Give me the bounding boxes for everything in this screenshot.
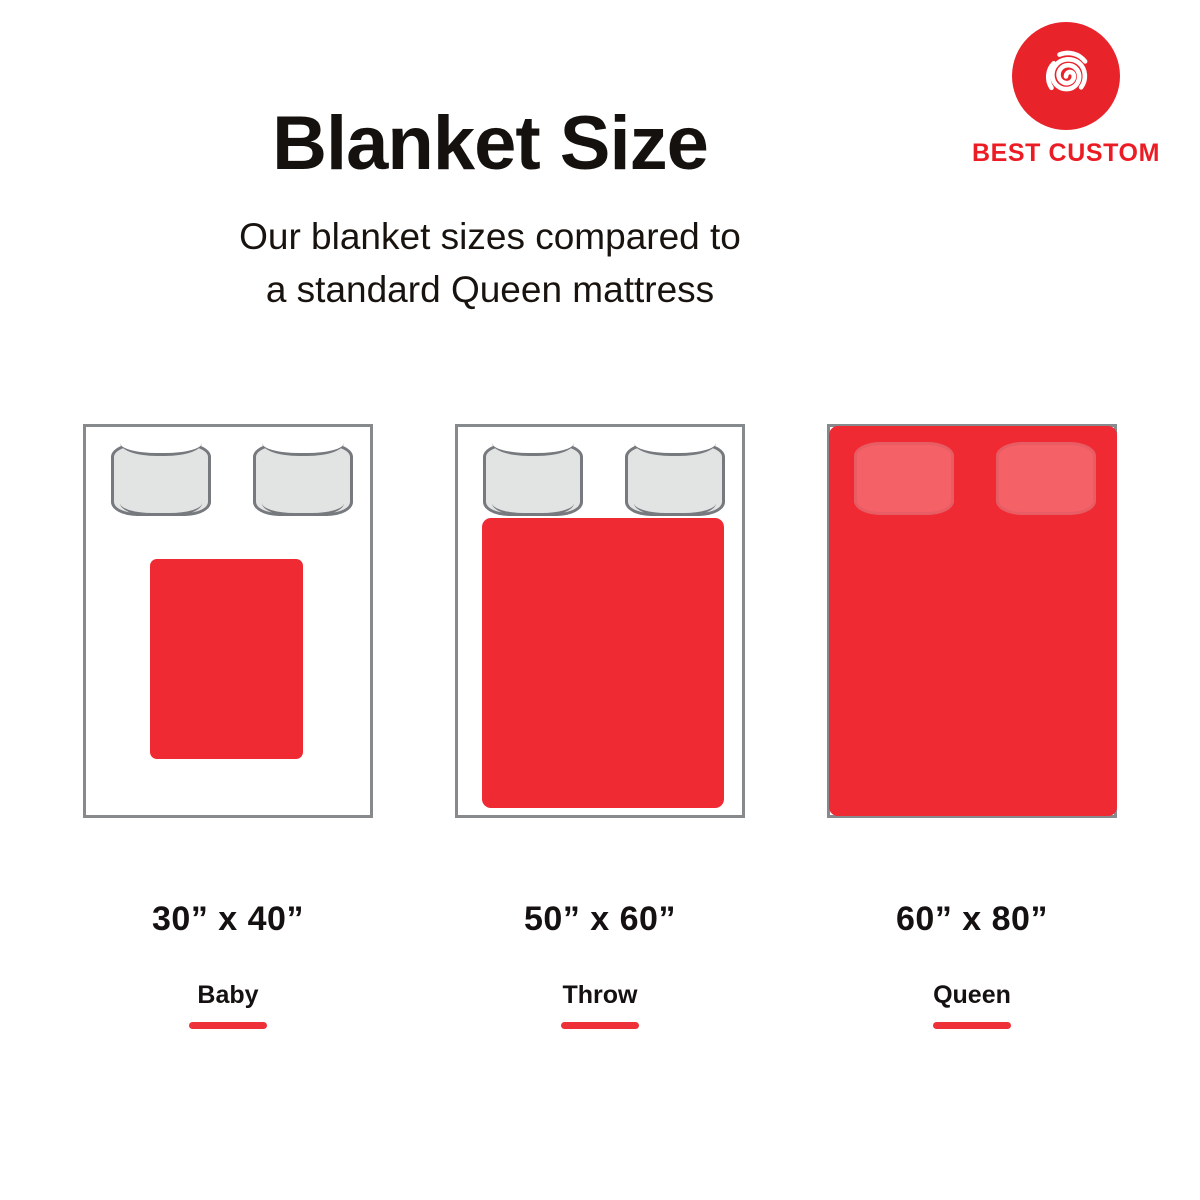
mattress-outline xyxy=(83,424,373,818)
dimension-label: 30” x 40” xyxy=(83,900,373,939)
bed-diagram-baby xyxy=(83,424,373,824)
caption-baby: 30” x 40” Baby xyxy=(83,900,373,1029)
dimension-label: 50” x 60” xyxy=(455,900,745,939)
blanket-queen xyxy=(829,426,1117,816)
mattress-outline xyxy=(455,424,745,818)
subtitle-line-1: Our blanket sizes compared to xyxy=(0,210,980,264)
caption-queen: 60” x 80” Queen xyxy=(827,900,1117,1029)
page-title: Blanket Size xyxy=(0,104,980,184)
pillow-right-icon xyxy=(625,443,725,516)
bed-diagrams xyxy=(0,424,1200,824)
header: Blanket Size Our blanket sizes compared … xyxy=(0,104,1200,317)
accent-underline xyxy=(189,1022,267,1029)
accent-underline xyxy=(561,1022,639,1029)
bed-captions: 30” x 40” Baby 50” x 60” Throw 60” x 80”… xyxy=(0,900,1200,1040)
pillow-right-icon xyxy=(253,443,353,516)
size-name-label: Throw xyxy=(455,981,745,1010)
pillow-left-icon xyxy=(111,443,211,516)
size-name-label: Baby xyxy=(83,981,373,1010)
pillow-right-icon xyxy=(996,442,1096,515)
page-subtitle: Our blanket sizes compared to a standard… xyxy=(0,210,980,317)
pillow-left-icon xyxy=(483,443,583,516)
blanket-throw xyxy=(482,518,724,808)
bed-diagram-queen xyxy=(827,424,1117,824)
size-name-label: Queen xyxy=(827,981,1117,1010)
infographic-page: BEST CUSTOM Blanket Size Our blanket siz… xyxy=(0,0,1200,1200)
blanket-baby xyxy=(150,559,303,759)
bed-diagram-throw xyxy=(455,424,745,824)
pillow-left-icon xyxy=(854,442,954,515)
caption-throw: 50” x 60” Throw xyxy=(455,900,745,1029)
mattress-outline xyxy=(827,424,1117,818)
dimension-label: 60” x 80” xyxy=(827,900,1117,939)
accent-underline xyxy=(933,1022,1011,1029)
subtitle-line-2: a standard Queen mattress xyxy=(0,263,980,317)
